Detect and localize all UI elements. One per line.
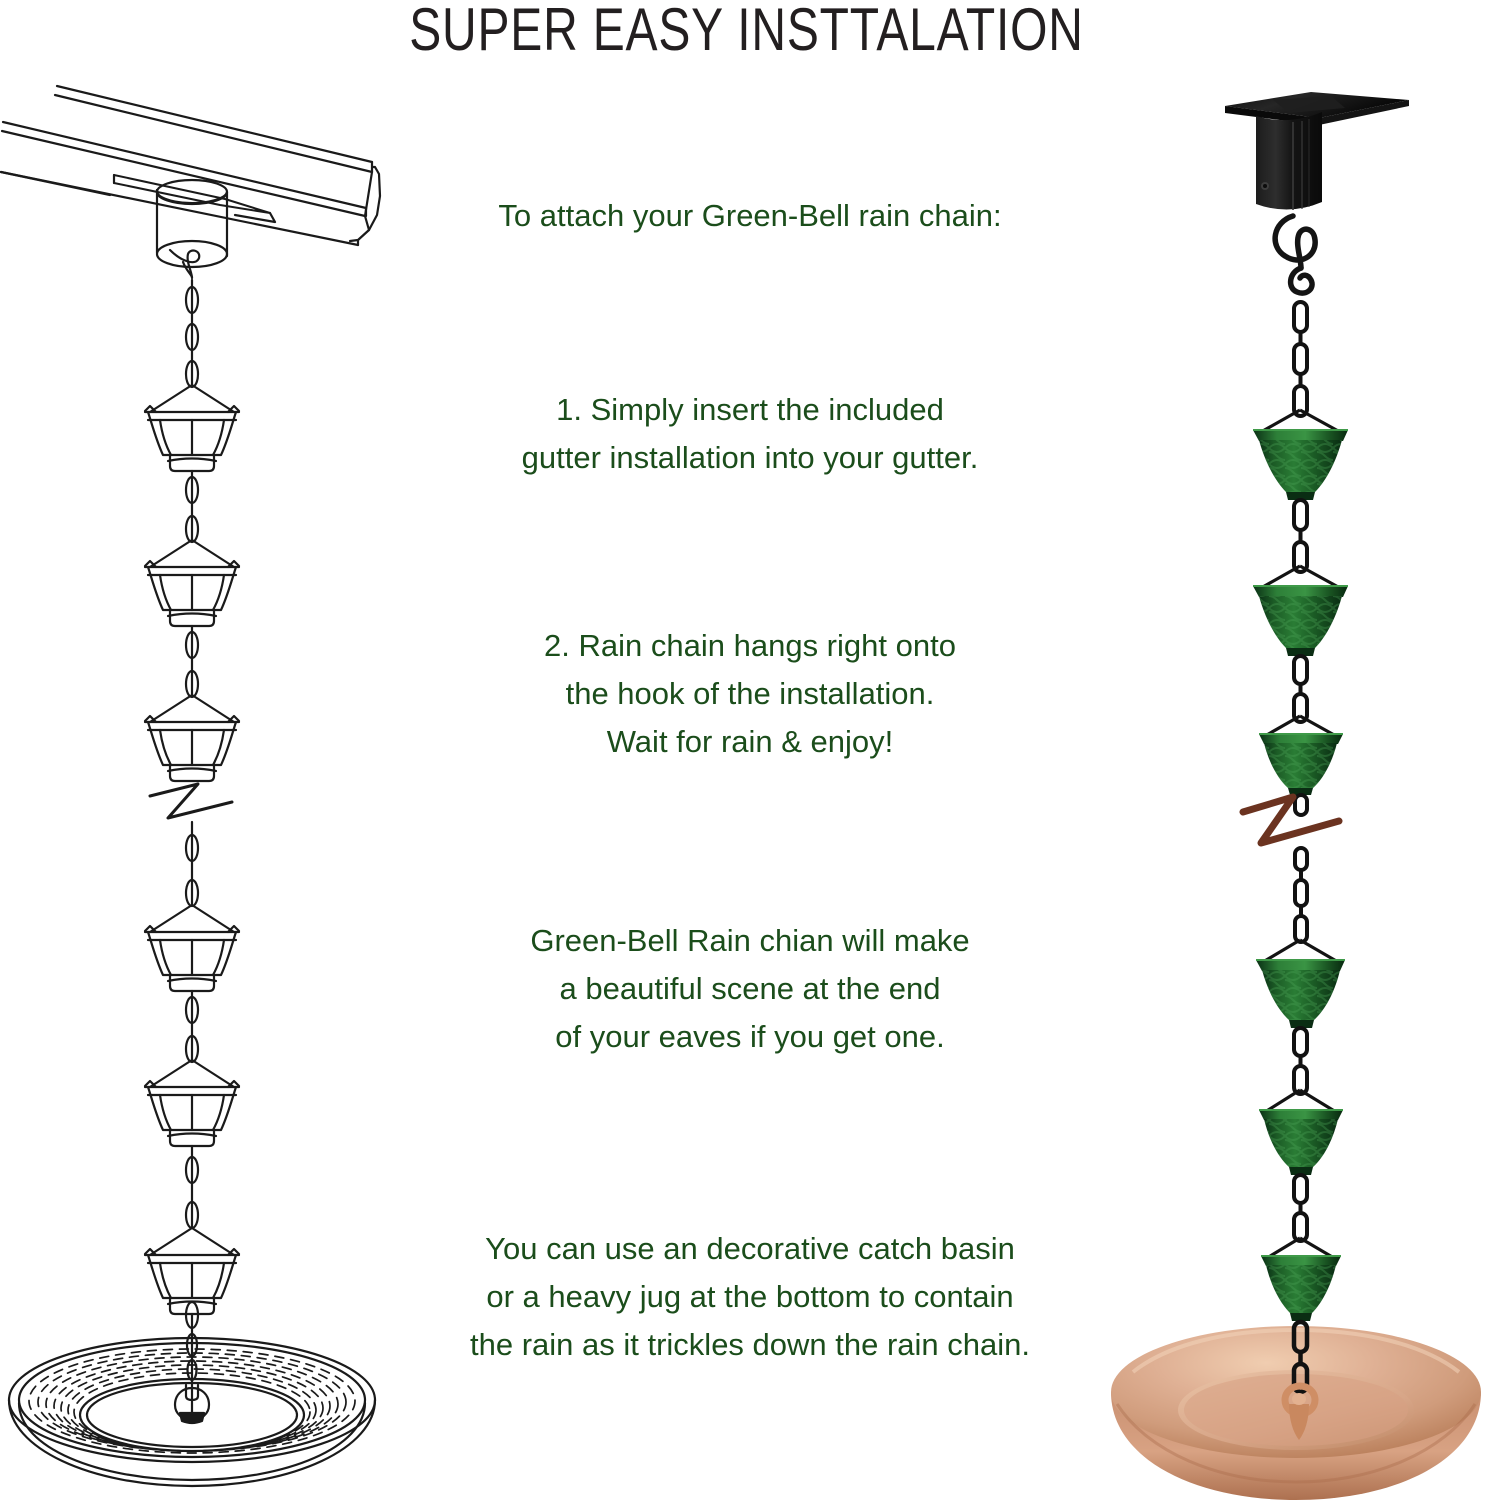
step-2-paragraph: 2. Rain chain hangs right onto the hook … [400,622,1100,766]
right-product-svg [1093,0,1493,1500]
step-1-paragraph: 1. Simply insert the included gutter ins… [400,386,1100,482]
bell-cup-line-1 [145,385,239,471]
infographic-page: SUPER EASY INSTTALATION [0,0,1493,1500]
basin-line-3: the rain as it trickles down the rain ch… [400,1321,1100,1369]
bell-cup-line-4 [145,905,239,991]
green-bell-cup-2 [1253,566,1348,656]
bell-cup-line-3 [145,695,239,781]
chain-link [1295,795,1307,815]
chain-link [1294,656,1307,722]
right-chain-and-cups [1243,302,1348,1321]
bell-cup-line-2 [145,540,239,626]
break-zigzag-icon [150,784,232,818]
basin-line-2: or a heavy jug at the bottom to contain [400,1273,1100,1321]
bell-cup-line-5 [145,1060,239,1146]
scene-paragraph: Green-Bell Rain chian will make a beauti… [400,917,1100,1061]
basin-paragraph: You can use an decorative catch basin or… [400,1225,1100,1369]
step-1-line-1: 1. Simply insert the included [400,386,1100,434]
s-hook [1275,216,1315,293]
chain-link [1294,1028,1307,1094]
right-product-photo [1093,0,1493,1500]
chain-link [1295,848,1307,942]
intro-line-1: To attach your Green-Bell rain chain: [400,196,1100,236]
step-1-line-2: gutter installation into your gutter. [400,434,1100,482]
break-zigzag-icon [1243,797,1339,843]
left-line-art-diagram [0,0,400,1500]
gutter-illustration [1,86,380,245]
green-bell-cup-6 [1261,1238,1341,1321]
green-bell-cup-4 [1256,940,1345,1028]
step-2-line-3: Wait for rain & enjoy! [400,718,1100,766]
chain-link [1294,302,1307,416]
green-bell-cup-3 [1259,716,1343,795]
intro-paragraph: To attach your Green-Bell rain chain: [400,196,1100,236]
instruction-text-column: To attach your Green-Bell rain chain: 1.… [400,0,1100,1500]
chain-link [1294,500,1307,572]
left-diagram-svg [0,0,400,1500]
left-chain-and-cups [145,280,239,1420]
scene-line-2: a beautiful scene at the end [400,965,1100,1013]
basin-line-1: You can use an decorative catch basin [400,1225,1100,1273]
step-2-line-1: 2. Rain chain hangs right onto [400,622,1100,670]
step-2-line-2: the hook of the installation. [400,670,1100,718]
gutter-installer-photo [1225,92,1409,210]
scene-line-3: of your eaves if you get one. [400,1013,1100,1061]
scene-line-1: Green-Bell Rain chian will make [400,917,1100,965]
chain-link [1294,1175,1307,1241]
green-bell-cup-1 [1253,410,1348,500]
green-bell-cup-5 [1259,1090,1343,1175]
